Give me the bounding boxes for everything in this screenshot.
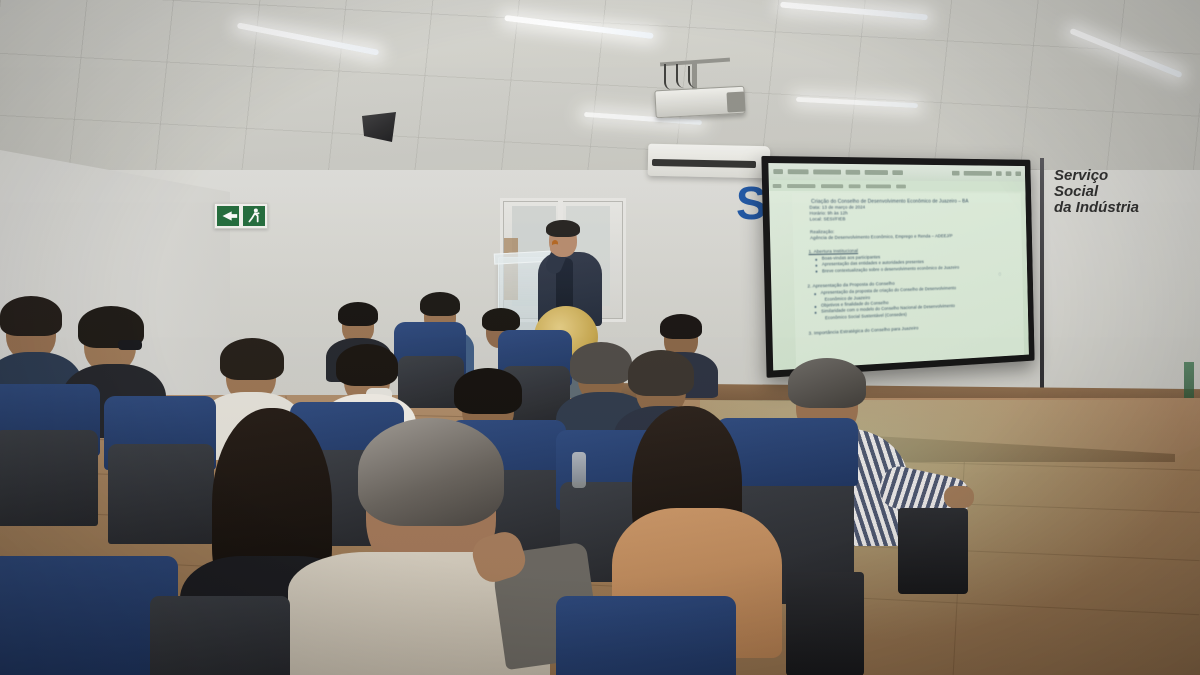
projection-screen: Criação do Conselho de Desenvolvimento E… [761,156,1034,378]
seat-armrest [898,508,968,594]
audience-hair [628,350,694,396]
menu-bar [769,180,1026,191]
exit-arrow-icon [217,206,239,226]
menu-bit[interactable] [866,184,891,188]
present-button-bit[interactable] [952,171,960,176]
seat-backrest [556,596,736,675]
audience-hair [660,314,702,339]
window-chrome-bit [865,170,888,175]
audience-hair [336,344,398,386]
window-chrome-bit [846,170,861,175]
presenter-hand [550,244,561,254]
window-title-bar [768,163,1025,181]
seat-armrest [786,572,864,675]
sesi-word-line1: Serviço [1054,168,1139,184]
menu-bit[interactable] [849,184,861,188]
foreground-hair-grey [358,418,504,526]
window-minimize-bit[interactable] [996,171,1002,176]
audience-hair [570,342,632,384]
audience-hair [420,292,460,316]
projector-cable-3 [688,66,698,88]
menu-bit[interactable] [773,184,782,188]
projector-lens [726,92,745,113]
window-chrome-bit [892,170,903,175]
menu-bit[interactable] [896,184,906,188]
presenter-glasses [551,234,575,239]
slide-section3-heading: 3. Importância Estratégica do Conselho p… [801,321,1019,339]
projector-cable-2 [676,64,688,88]
audience-sunglasses [118,340,142,350]
window-maximize-bit[interactable] [1006,171,1012,176]
audience-hair [338,302,378,326]
sesi-logo-words: Serviço Social da Indústria [1054,168,1139,216]
water-bottle [572,452,586,488]
cursor-icon: ◌ [998,272,1001,278]
seat-shell [150,596,290,675]
window-chrome-bit [788,169,809,174]
projection-screen-surface: Criação do Conselho de Desenvolvimento E… [768,163,1029,370]
menu-bit[interactable] [787,184,815,188]
audience-hair [482,308,520,331]
exit-sign [214,203,268,229]
projector-cable-1 [664,64,676,90]
window-chrome-bit [813,169,841,174]
seat-shell [0,430,98,526]
present-button-bit[interactable] [964,171,992,176]
conference-room-photo: SE Serviço Social da Indústria [0,0,1200,675]
menu-bit[interactable] [821,184,843,188]
window-close-bit[interactable] [1015,171,1021,176]
sesi-word-line2: Social [1054,184,1139,200]
seat-shell [108,444,214,544]
edge-artifact [1184,362,1194,398]
audience-hair [0,296,62,336]
sesi-word-line3: da Indústria [1054,200,1139,216]
slide-content: Criação do Conselho de Desenvolvimento E… [792,193,1024,369]
exit-runner-icon [243,206,265,226]
wall-corner-edge [1040,158,1044,388]
window-chrome-bit [773,169,783,174]
audience-hair-grey [788,358,866,408]
audience-hand [944,486,974,508]
audience-hair [454,368,522,414]
audience-hair [220,338,284,380]
